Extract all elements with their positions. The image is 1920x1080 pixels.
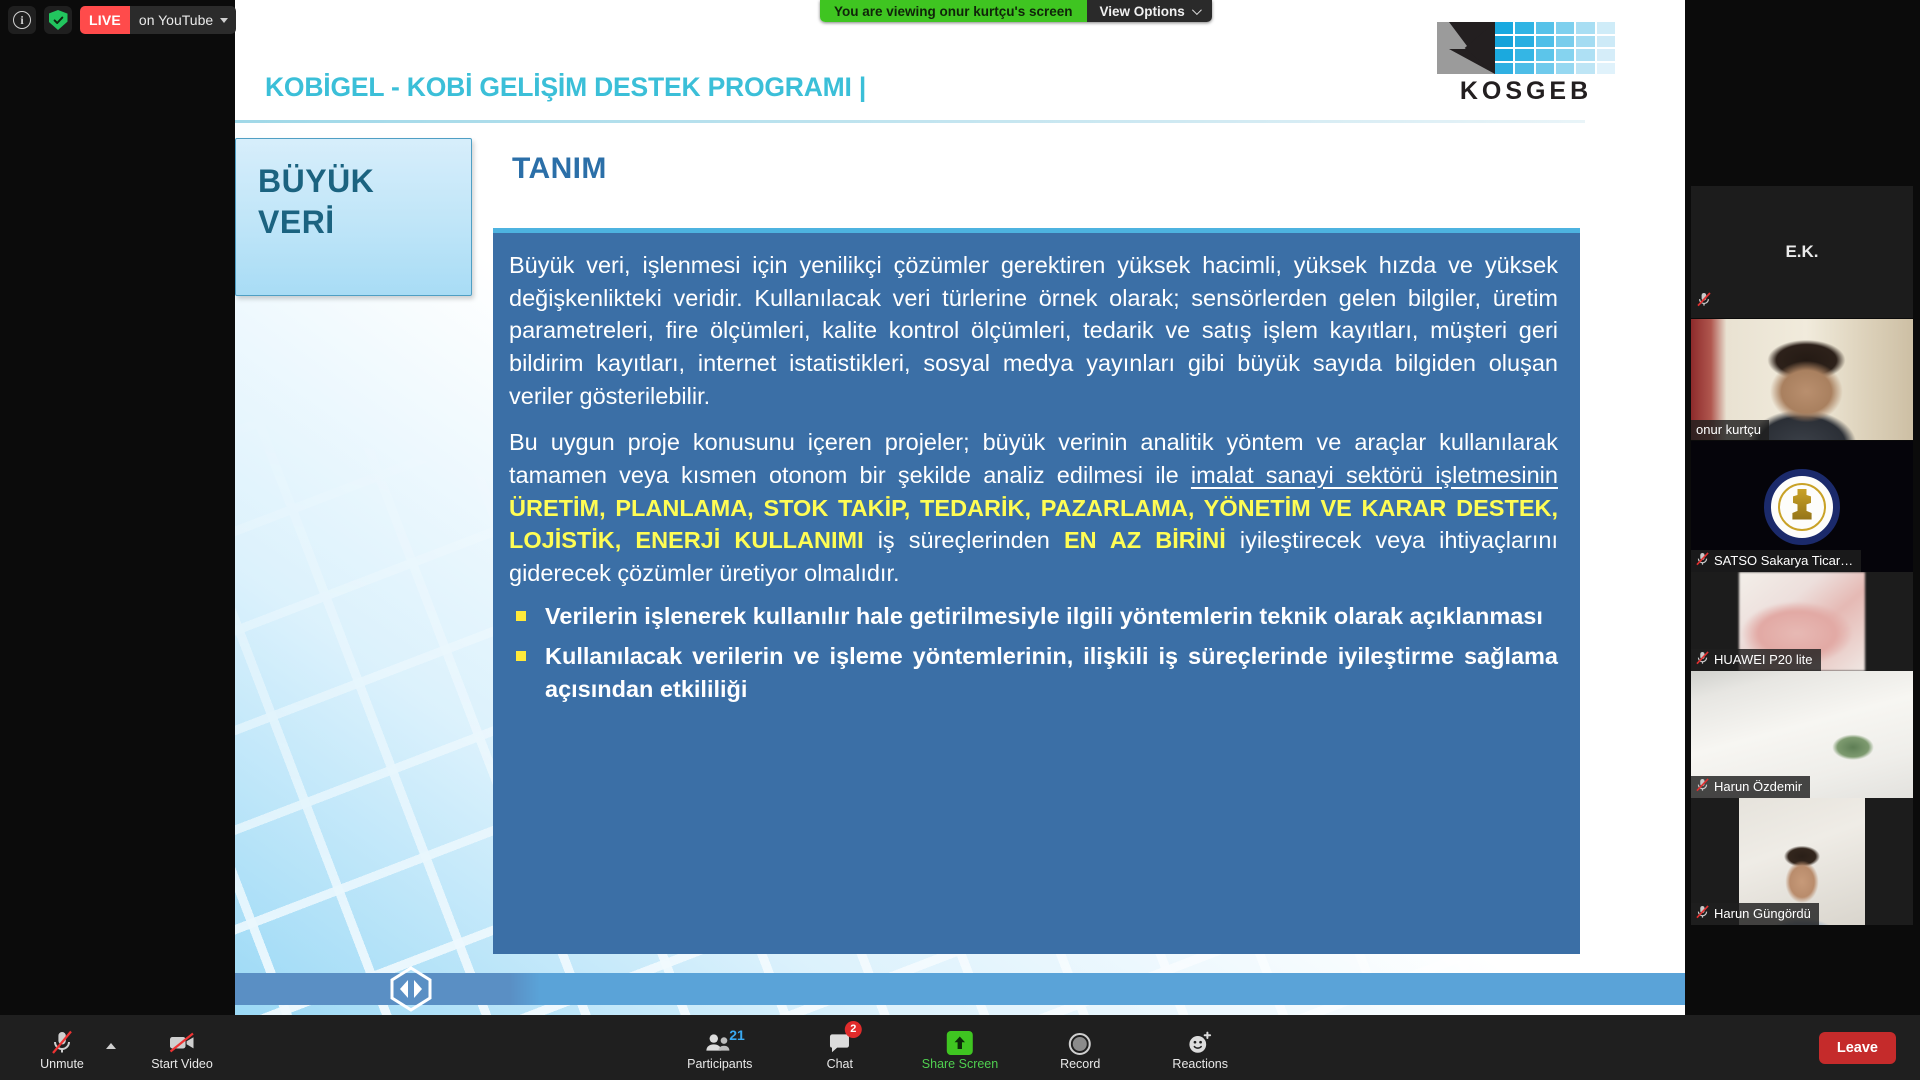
participant-thumbnail-strip[interactable]: E.K. onur kurtçu SATSO Sakarya Ticar…: [1685, 0, 1920, 1015]
toolbar-center-group: 21 Participants 2 Chat Share Screen: [682, 1025, 1238, 1071]
record-icon: [1069, 1029, 1091, 1055]
start-video-label: Start Video: [151, 1058, 213, 1071]
bullet-list: Verilerin işlenerek kullanılır hale geti…: [509, 600, 1558, 707]
section-heading: TANIM: [512, 152, 607, 186]
chat-button[interactable]: 2 Chat: [802, 1025, 878, 1071]
live-platform-label: on YouTube: [130, 6, 236, 34]
microphone-muted-icon: [50, 1029, 74, 1055]
view-options-button[interactable]: View Options: [1087, 0, 1212, 22]
chat-label: Chat: [827, 1058, 853, 1071]
p2-highlight-2: EN AZ BİRİNİ: [1064, 527, 1226, 553]
viewing-message: You are viewing onur kurtçu's screen: [820, 0, 1087, 22]
leave-button[interactable]: Leave: [1819, 1032, 1896, 1064]
participant-tile-harun-ozdemir[interactable]: Harun Özdemir: [1691, 671, 1913, 798]
participant-tile-onur-kurtcu[interactable]: onur kurtçu: [1691, 319, 1913, 440]
slide-content-box: Büyük veri, işlenmesi için yenilikçi çöz…: [493, 228, 1580, 954]
record-label: Record: [1060, 1058, 1100, 1071]
topic-box-line2: VERİ: [258, 202, 471, 243]
meeting-info-button[interactable]: i: [8, 6, 36, 34]
reactions-button[interactable]: Reactions: [1162, 1025, 1238, 1071]
slide-navigation-arrows-icon[interactable]: [387, 965, 435, 1013]
info-icon: i: [13, 11, 31, 29]
participant-name-label: Harun Güngördü: [1691, 903, 1819, 925]
kosgeb-wordmark: KOSGEB: [1460, 77, 1592, 106]
p2-part2: iş süreçlerinden: [864, 527, 1064, 553]
participants-label: Participants: [687, 1058, 752, 1071]
encryption-status-button[interactable]: [44, 6, 72, 34]
participants-button[interactable]: 21 Participants: [682, 1025, 758, 1071]
participant-name-text: Harun Güngördü: [1714, 906, 1811, 921]
audio-options-chevron[interactable]: [106, 1025, 116, 1049]
video-camera-off-icon: [168, 1029, 196, 1055]
paragraph-2: Bu uygun proje konusunu içeren projeler;…: [509, 426, 1558, 589]
screen-share-banner: You are viewing onur kurtçu's screen Vie…: [820, 0, 1212, 22]
participant-name-label: HUAWEI P20 lite: [1691, 649, 1821, 671]
live-status-strip: i LIVE on YouTube: [8, 6, 236, 34]
live-on-youtube-button[interactable]: LIVE on YouTube: [80, 6, 236, 34]
participant-tile-satso[interactable]: SATSO Sakarya Ticar…: [1691, 441, 1913, 572]
participant-tile-ek[interactable]: E.K.: [1691, 186, 1913, 318]
participant-tile-harun-gungordu[interactable]: Harun Güngördü: [1691, 798, 1913, 925]
mic-off-icon: [1696, 905, 1709, 922]
kosgeb-k-glyph: [1437, 22, 1495, 74]
topic-box-line1: BÜYÜK: [258, 161, 471, 202]
shield-check-icon: [49, 10, 68, 30]
topic-box: BÜYÜK VERİ: [235, 138, 472, 296]
reactions-label: Reactions: [1172, 1058, 1228, 1071]
satso-logo-icon: [1764, 469, 1840, 545]
shared-screen-slide[interactable]: KOBİGEL - KOBİ GELİŞİM DESTEK PROGRAMI |…: [235, 0, 1687, 1015]
share-screen-icon: [947, 1029, 973, 1055]
participant-name-text: HUAWEI P20 lite: [1714, 652, 1813, 667]
paragraph-1: Büyük veri, işlenmesi için yenilikçi çöz…: [509, 249, 1558, 412]
mic-off-icon: [1696, 651, 1709, 668]
mic-off-icon: [1696, 552, 1709, 569]
participant-name-label: Harun Özdemir: [1691, 776, 1810, 798]
chevron-down-icon: [1192, 5, 1202, 15]
share-screen-label: Share Screen: [922, 1058, 998, 1071]
live-platform-text: on YouTube: [139, 12, 213, 28]
chevron-up-icon: [106, 1043, 116, 1049]
participants-count: 21: [729, 1027, 745, 1043]
participant-tile-huawei[interactable]: HUAWEI P20 lite: [1691, 572, 1913, 671]
participant-name-label: SATSO Sakarya Ticar…: [1691, 550, 1861, 572]
zoom-meeting-window: i LIVE on YouTube You are viewing onur k…: [0, 0, 1920, 1080]
title-divider: [235, 120, 1585, 123]
kosgeb-logo: KOSGEB: [1437, 22, 1615, 106]
mic-off-icon: [1697, 292, 1711, 312]
participant-name-text: SATSO Sakarya Ticar…: [1714, 553, 1853, 568]
page-title: KOBİGEL - KOBİ GELİŞİM DESTEK PROGRAMI |: [265, 72, 866, 103]
participant-initials: E.K.: [1691, 186, 1913, 318]
kosgeb-squares-grid: [1495, 22, 1615, 74]
unmute-button[interactable]: Unmute: [24, 1025, 100, 1071]
view-options-label: View Options: [1100, 4, 1185, 19]
slide-footer-bar: [235, 973, 1687, 1005]
participant-name-text: Harun Özdemir: [1714, 779, 1802, 794]
chat-unread-badge: 2: [845, 1021, 862, 1038]
bullet-item: Kullanılacak verilerin ve işleme yönteml…: [509, 640, 1558, 706]
mic-off-icon: [1696, 778, 1709, 795]
meeting-toolbar: Unmute Start Video 21 Participants: [0, 1015, 1920, 1080]
participant-name-text: onur kurtçu: [1696, 422, 1761, 437]
bullet-item: Verilerin işlenerek kullanılır hale geti…: [509, 600, 1558, 633]
reactions-icon: [1187, 1029, 1213, 1055]
participant-name-label: onur kurtçu: [1691, 420, 1769, 440]
live-badge: LIVE: [80, 6, 130, 34]
record-button[interactable]: Record: [1042, 1025, 1118, 1071]
toolbar-left-group: Unmute Start Video: [0, 1025, 220, 1071]
unmute-label: Unmute: [40, 1058, 84, 1071]
p2-underlined: imalat sanayi sektörü işletmesinin: [1191, 462, 1558, 488]
chevron-down-icon: [220, 18, 228, 23]
start-video-button[interactable]: Start Video: [144, 1025, 220, 1071]
share-screen-button[interactable]: Share Screen: [922, 1025, 998, 1071]
kosgeb-logo-mark: [1437, 22, 1615, 74]
